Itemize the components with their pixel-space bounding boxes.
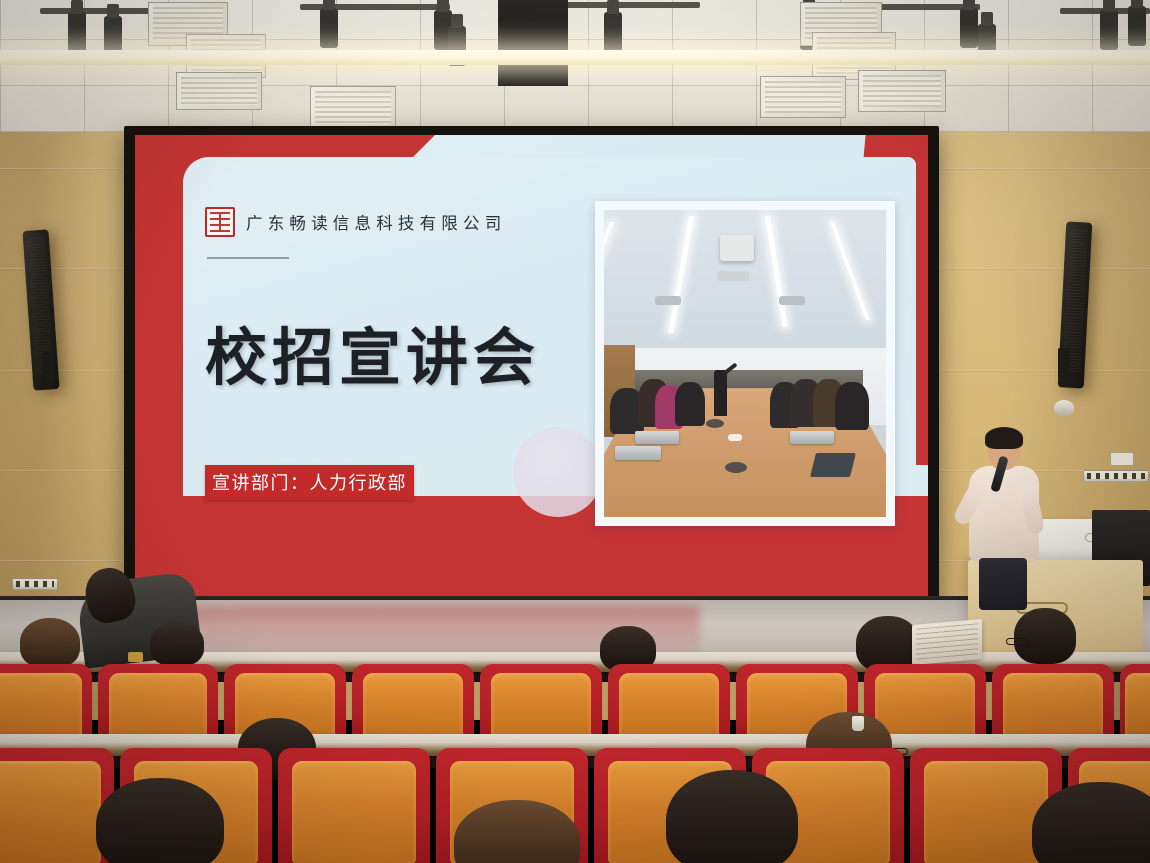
slide-photo-image (604, 210, 886, 517)
ac-diffuser-icon (310, 86, 396, 130)
ceiling (0, 0, 1150, 132)
eyeglasses-icon (1006, 638, 1030, 645)
open-laptop (912, 619, 982, 665)
laptop-icon (790, 431, 834, 444)
ceiling-light-strip (0, 50, 1150, 65)
laptop-icon (615, 446, 661, 460)
dome-camera-icon (1054, 400, 1074, 416)
audience-head (1014, 608, 1076, 664)
ac-diffuser-icon (176, 72, 262, 110)
auditorium-seat (98, 664, 218, 742)
slide-circle-decoration (513, 427, 603, 517)
auditorium-seat (608, 664, 730, 742)
wall-outlet-strip (1083, 470, 1149, 482)
slide-department-badge: 宣讲部门：人力行政部 (205, 465, 414, 500)
slide-title: 校招宣讲会 (205, 307, 540, 397)
phone-icon (128, 652, 143, 662)
stage-light-icon (68, 12, 86, 52)
auditorium-seat (480, 664, 602, 742)
ceiling-projector-box (498, 0, 568, 86)
stage-light-icon (960, 8, 978, 48)
audience-head (20, 618, 80, 668)
auditorium-seat (992, 664, 1114, 742)
stage-light-icon (1128, 6, 1146, 46)
speaker-mount-bracket (1058, 348, 1070, 378)
slide-divider-rule (207, 257, 289, 259)
wall-outlet-strip (12, 578, 58, 590)
company-name: 广东畅读信息科技有限公司 (246, 210, 506, 234)
stage-light-icon (1100, 10, 1118, 50)
cup-icon (852, 716, 864, 731)
auditorium-seat (1120, 664, 1150, 742)
wall-plate (1110, 452, 1134, 466)
ac-diffuser-icon (858, 70, 946, 112)
laptop-icon (635, 431, 679, 444)
company-seal-icon (205, 207, 235, 237)
presenter-with-microphone (965, 430, 1043, 605)
lecture-hall-photo: 广东畅读信息科技有限公司 校招宣讲会 宣讲部门：人力行政部 (0, 0, 1150, 863)
auditorium-seat (278, 748, 430, 863)
slide-logo-row: 广东畅读信息科技有限公司 (205, 207, 506, 237)
projection-screen-frame: 广东畅读信息科技有限公司 校招宣讲会 宣讲部门：人力行政部 (124, 126, 939, 618)
speaker-mount-bracket (42, 352, 54, 382)
person-standing-in-photo (714, 370, 727, 416)
stage-light-icon (604, 12, 622, 52)
projector-icon (720, 235, 754, 261)
ac-diffuser-icon (760, 76, 846, 118)
audience-head (150, 622, 204, 666)
audience-head-foreground (666, 770, 798, 863)
projected-slide: 广东畅读信息科技有限公司 校招宣讲会 宣讲部门：人力行政部 (135, 135, 928, 608)
auditorium-seat (0, 664, 92, 742)
slide-photo-frame (595, 201, 895, 526)
stage-light-icon (320, 8, 338, 48)
audience-head-foreground (96, 778, 224, 863)
auditorium-seat (352, 664, 474, 742)
